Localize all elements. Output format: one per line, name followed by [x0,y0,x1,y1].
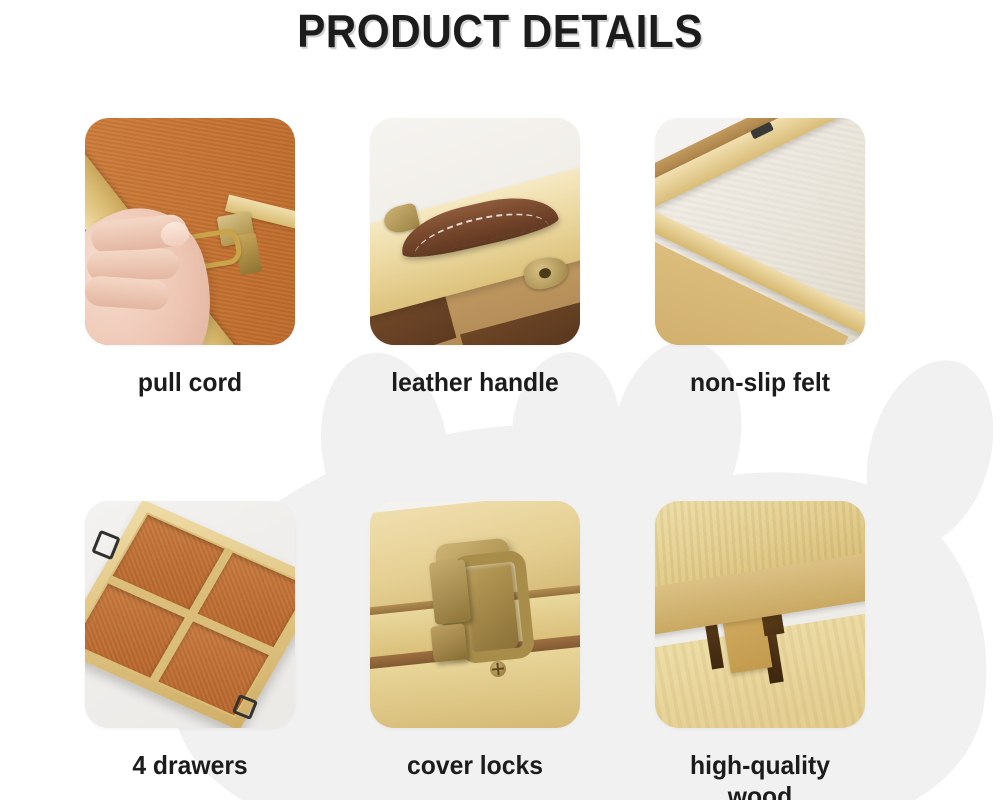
feature-card-non-slip-felt: non-slip felt [655,118,865,397]
feature-card-high-quality-wood: high-quality wood [655,501,865,800]
feature-image-high-quality-wood [655,501,865,728]
latch-tongue-icon [429,560,471,625]
product-details-infographic: PRODUCT DETAILS pull co [0,0,1000,800]
latch-catch-icon [430,624,468,663]
finger-icon [85,275,170,311]
feature-image-non-slip-felt [655,118,865,345]
feature-card-4-drawers: 4 drawers [85,501,295,800]
scene-high-quality-wood [655,501,865,728]
scene-4-drawers [85,501,295,728]
feature-label-4-drawers: 4 drawers [90,750,290,780]
feature-image-cover-locks [370,501,580,728]
scene-pull-cord [85,118,295,345]
scene-cover-locks [370,501,580,728]
feature-label-cover-locks: cover locks [375,750,575,780]
feature-card-pull-cord: pull cord [85,118,295,397]
feature-label-pull-cord: pull cord [90,367,290,397]
feature-image-4-drawers [85,501,295,728]
feature-card-cover-locks: cover locks [370,501,580,800]
feature-image-leather-handle [370,118,580,345]
scene-non-slip-felt [655,118,865,345]
feature-label-leather-handle: leather handle [375,367,575,397]
page-title: PRODUCT DETAILS [40,4,960,58]
feature-label-non-slip-felt: non-slip felt [660,367,860,397]
feature-label-high-quality-wood: high-quality wood [660,750,860,800]
feature-card-leather-handle: leather handle [370,118,580,397]
feature-image-pull-cord [85,118,295,345]
feature-grid: pull cord leather handle [85,118,880,800]
scene-leather-handle [370,118,580,345]
